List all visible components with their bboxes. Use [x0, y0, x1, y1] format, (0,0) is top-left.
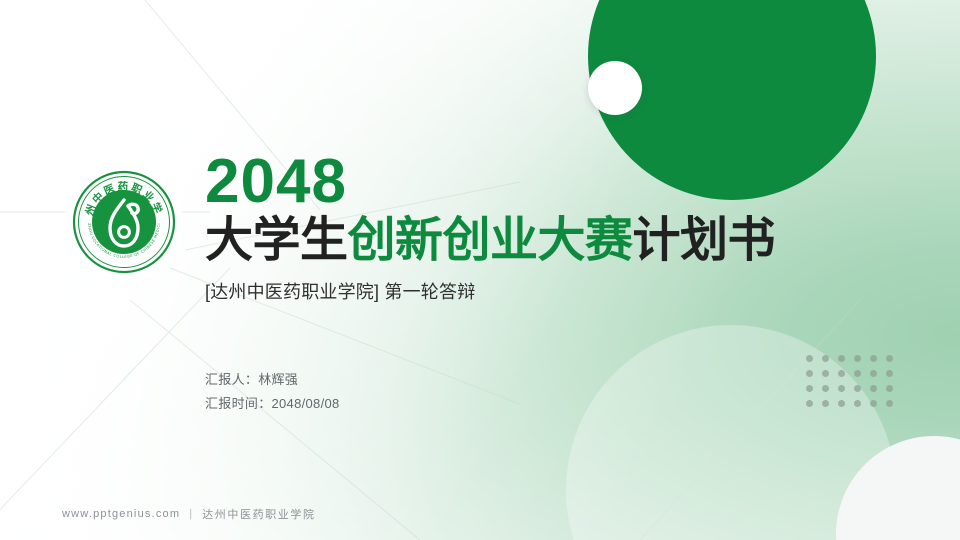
decor-white-circle-accent: [588, 61, 642, 115]
date-line: 汇报时间：2048/08/08: [205, 392, 340, 416]
footer-org: 达州中医药职业学院: [202, 506, 315, 522]
meta-block: 汇报人：林辉强 汇报时间：2048/08/08: [205, 368, 340, 415]
headline-lead: 大学生: [205, 214, 348, 267]
college-emblem-icon: 达州中医药职业学院 DAZHOU VOCATIONAL COLLEGE OF C…: [72, 170, 176, 274]
main-headline: 大学生创新创业大赛计划书: [205, 214, 825, 268]
year-heading: 2048: [205, 152, 825, 212]
presenter-line: 汇报人：林辉强: [205, 368, 340, 392]
footer-site[interactable]: www.pptgenius.com: [62, 508, 180, 520]
footer: www.pptgenius.com | 达州中医药职业学院: [62, 506, 316, 522]
presentation-cover-slide: 达州中医药职业学院 DAZHOU VOCATIONAL COLLEGE OF C…: [0, 0, 960, 540]
footer-separator: |: [189, 508, 193, 520]
title-block: 2048 大学生创新创业大赛计划书 [达州中医药职业学院] 第一轮答辩: [205, 152, 825, 304]
headline-tail: 计划书: [633, 214, 776, 267]
decor-dot-grid: [806, 355, 902, 415]
headline-accent: 创新创业大赛: [348, 214, 633, 267]
college-logo: 达州中医药职业学院 DAZHOU VOCATIONAL COLLEGE OF C…: [72, 170, 176, 274]
subtitle: [达州中医药职业学院] 第一轮答辩: [205, 278, 825, 304]
